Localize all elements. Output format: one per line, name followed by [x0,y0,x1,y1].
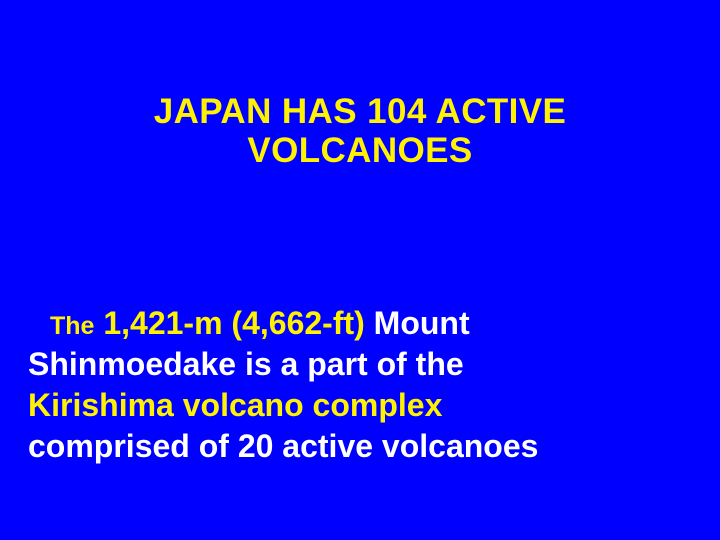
title-line-1: JAPAN HAS 104 ACTIVE [0,92,720,131]
body-line-1-rest: Mount [365,305,470,341]
body-line-1-measurement: 1,421-m (4,662-ft) [94,305,364,341]
body-line-1: The 1,421-m (4,662-ft) Mount [28,303,692,344]
slide-canvas: JAPAN HAS 104 ACTIVE VOLCANOES The 1,421… [0,0,720,540]
body-line-3: Kirishima volcano complex [28,385,692,426]
slide-body-text: The 1,421-m (4,662-ft) Mount Shinmoedake… [28,303,692,467]
title-line-2: VOLCANOES [0,131,720,170]
body-line-4: comprised of 20 active volcanoes [28,426,692,467]
slide-title: JAPAN HAS 104 ACTIVE VOLCANOES [0,92,720,170]
body-line-1-the: The [50,312,94,340]
body-line-2: Shinmoedake is a part of the [28,344,692,385]
